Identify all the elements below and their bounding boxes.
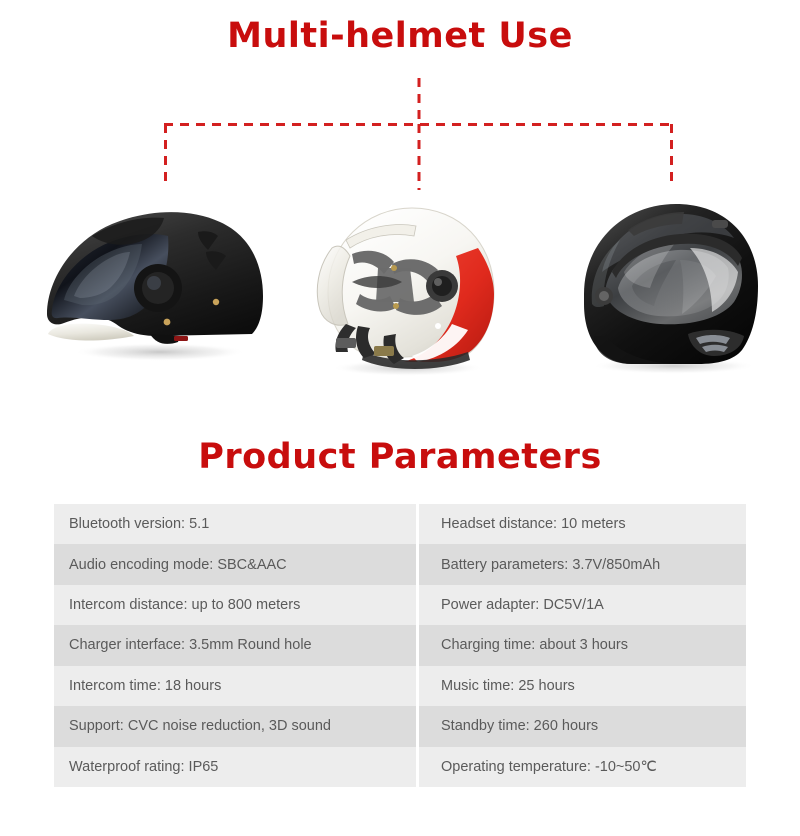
product-parameters-table: Bluetooth version: 5.1 Headset distance:…: [54, 504, 746, 787]
helmet-image-white-red-jet: [292, 186, 518, 386]
table-row: Charger interface: 3.5mm Round hole Char…: [54, 625, 746, 665]
table-row: Intercom distance: up to 800 meters Powe…: [54, 585, 746, 625]
helmet-gallery: [0, 186, 800, 386]
param-right: Power adapter: DC5V/1A: [419, 585, 746, 625]
param-right: Battery parameters: 3.7V/850mAh: [419, 544, 746, 584]
product-parameters-title: Product Parameters: [0, 437, 800, 477]
helmet-pivot-inner: [599, 291, 609, 301]
table-row: Support: CVC noise reduction, 3D sound S…: [54, 706, 746, 746]
white-red-jet-helmet-icon: [292, 186, 518, 386]
helmet-screw-top: [391, 265, 397, 271]
helmet-pivot-gloss: [147, 276, 161, 290]
param-left: Support: CVC noise reduction, 3D sound: [54, 706, 416, 746]
param-right: Operating temperature: -10~50℃: [419, 747, 746, 787]
helmet-image-black-full-face: [562, 186, 788, 386]
table-row: Waterproof rating: IP65 Operating temper…: [54, 747, 746, 787]
helmet-rivet-front: [164, 319, 171, 326]
param-left: Audio encoding mode: SBC&AAC: [54, 544, 416, 584]
param-right: Headset distance: 10 meters: [419, 504, 746, 544]
helmet-rear-vent: [712, 220, 728, 228]
param-left: Bluetooth version: 5.1: [54, 504, 416, 544]
helmet-pivot-gloss: [434, 278, 442, 286]
helmet-pivot-inner: [432, 276, 452, 296]
black-open-face-helmet-icon: [30, 186, 280, 386]
helmet-strap-tab: [174, 336, 188, 341]
helmet-stripe-dot: [435, 323, 441, 329]
helmet-screw-bottom: [393, 303, 399, 309]
param-left: Intercom time: 18 hours: [54, 666, 416, 706]
param-left: Charger interface: 3.5mm Round hole: [54, 625, 416, 665]
param-right: Standby time: 260 hours: [419, 706, 746, 746]
helmet-image-black-open-face: [30, 186, 280, 386]
helmet-shadow: [74, 343, 246, 361]
helmet-rivet-rear: [213, 299, 219, 305]
param-right: Music time: 25 hours: [419, 666, 746, 706]
table-row: Bluetooth version: 5.1 Headset distance:…: [54, 504, 746, 544]
param-left: Waterproof rating: IP65: [54, 747, 416, 787]
table-row: Intercom time: 18 hours Music time: 25 h…: [54, 666, 746, 706]
table-row: Audio encoding mode: SBC&AAC Battery par…: [54, 544, 746, 584]
param-right: Charging time: about 3 hours: [419, 625, 746, 665]
multi-helmet-use-title: Multi-helmet Use: [0, 16, 800, 56]
param-left: Intercom distance: up to 800 meters: [54, 585, 416, 625]
black-full-face-helmet-icon: [562, 186, 788, 386]
